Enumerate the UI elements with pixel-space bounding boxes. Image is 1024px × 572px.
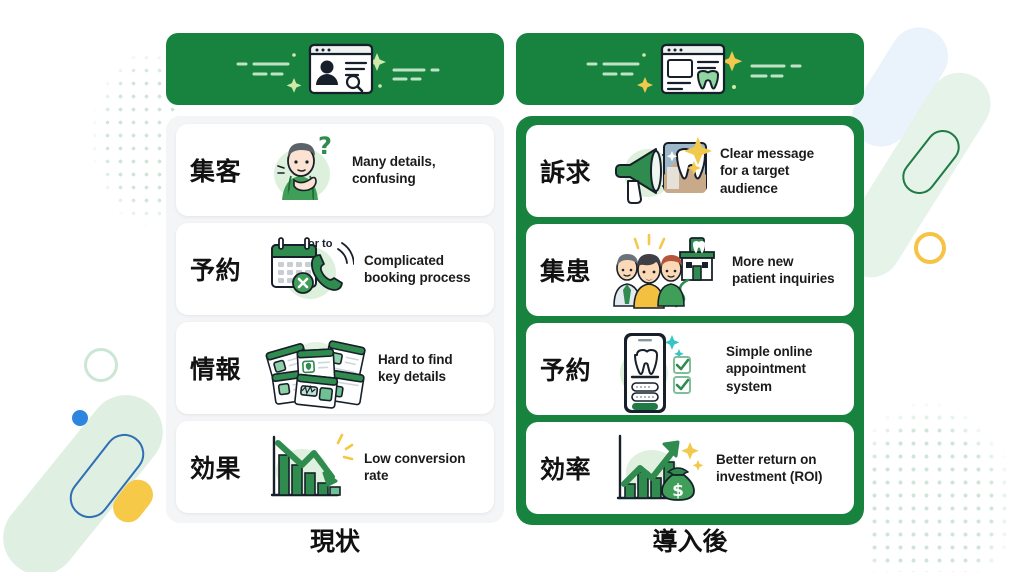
card-after-booking[interactable]: 予約: [526, 323, 854, 415]
card-before-booking[interactable]: 予約 or to: [176, 223, 494, 315]
card-before-acquisition[interactable]: 集客 ?: [176, 124, 494, 216]
browser-tooth-icon: [516, 33, 864, 105]
card-kanji: 効率: [540, 450, 602, 486]
card-kanji: 情報: [190, 350, 252, 386]
card-kanji: 訴求: [540, 153, 602, 189]
blue-pill-decoration: [62, 426, 153, 526]
megaphone-clinic-photo-icon: [608, 129, 712, 213]
card-before-results[interactable]: 効果: [176, 421, 494, 513]
after-column: 訴求: [516, 33, 864, 525]
dot-grid-decoration-right: [868, 398, 1018, 572]
declining-bar-chart-icon: [258, 427, 354, 507]
before-column: 集客 ?: [166, 33, 504, 523]
card-description: More new patient inquiries: [732, 253, 844, 288]
card-description: Clear message for a target audience: [720, 145, 844, 197]
after-footer-label: 導入後: [516, 522, 864, 558]
yellow-circle-decoration: [914, 232, 946, 264]
dot-grid-decoration-left: [62, 38, 182, 238]
card-after-efficiency[interactable]: 効率: [526, 422, 854, 514]
svg-text:?: ?: [318, 132, 332, 160]
browser-profile-search-icon: [166, 33, 504, 105]
comparison-infographic: 集客 ?: [0, 0, 1024, 572]
calendar-phone-icon: or to: [258, 227, 354, 311]
yellow-pill-decoration: [107, 474, 159, 529]
smartphone-booking-icon: [608, 325, 718, 413]
blue-dot-decoration: [72, 410, 88, 426]
green-band-decoration-left: [0, 380, 178, 572]
before-footer-label: 現状: [166, 522, 504, 558]
after-card-list: 訴求: [516, 116, 864, 525]
green-circle-decoration: [84, 348, 118, 382]
card-kanji: 予約: [190, 251, 252, 287]
card-description: Better return on investment (ROI): [716, 451, 844, 486]
card-after-appeal[interactable]: 訴求: [526, 125, 854, 217]
card-kanji: 集客: [190, 152, 252, 188]
card-description: Many details, confusing: [352, 153, 484, 188]
green-pill-decoration: [895, 123, 966, 201]
svg-text:$: $: [672, 481, 684, 501]
card-kanji: 効果: [190, 449, 252, 485]
rising-chart-moneybag-icon: $: [608, 428, 708, 508]
card-after-patients[interactable]: 集患: [526, 224, 854, 316]
before-card-list: 集客 ?: [166, 116, 504, 523]
after-banner: [516, 33, 864, 105]
card-description: Hard to find key details: [378, 351, 484, 386]
confused-person-icon: ?: [258, 128, 342, 212]
card-description: Low conversion rate: [364, 450, 484, 485]
before-banner: [166, 33, 504, 105]
card-before-information[interactable]: 情報: [176, 322, 494, 414]
card-description: Simple online appointment system: [726, 343, 844, 395]
patients-clinic-icon: [608, 228, 724, 312]
card-description: Complicated booking process: [364, 252, 484, 287]
card-kanji: 予約: [540, 351, 602, 387]
card-kanji: 集患: [540, 252, 602, 288]
scattered-webpages-icon: [258, 326, 368, 410]
